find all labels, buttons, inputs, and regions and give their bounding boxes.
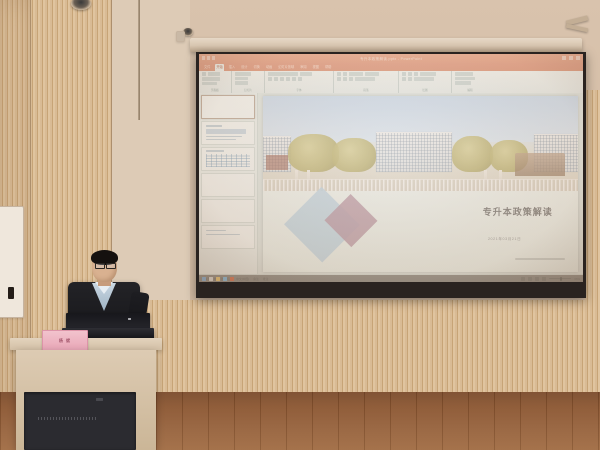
select-icon[interactable] [455,81,471,85]
start-icon[interactable] [202,277,206,281]
white-access-panel [0,206,24,318]
ribbon-group-paragraph[interactable]: 段落 [334,71,399,93]
slide-title-text[interactable]: 专升本政策解读 [483,205,553,218]
podium-vent-grille [38,417,98,420]
slide-thumbnail-4[interactable] [201,173,255,197]
photo-tree-3 [452,136,493,172]
minimize-icon[interactable] [562,56,566,60]
italic-icon[interactable] [274,77,278,81]
campus-photo [263,96,578,191]
current-slide[interactable]: 专升本政策解读 2021年03月21日 [263,96,578,272]
numbering-icon[interactable] [343,72,347,76]
powerpoint-workspace: 专升本政策解读 2021年03月21日 [199,93,583,275]
layout-icon[interactable] [235,77,248,81]
ribbon[interactable]: 剪贴板 幻灯片 [199,71,583,94]
windows-taskbar[interactable] [199,275,583,282]
slide-thumbnail-panel[interactable] [199,93,258,275]
projected-screen-surface: 专升本政策解读.pptx - PowerPoint 文件 开始 插入 设计 切换… [199,54,583,282]
laptop-screen [66,313,150,329]
quick-styles-icon[interactable] [408,77,412,81]
indent-icon[interactable] [349,72,363,76]
slide-thumbnail-1[interactable] [201,95,255,119]
cut-icon[interactable] [208,72,220,76]
shape-gallery-icon-3[interactable] [414,72,418,76]
align-left-icon[interactable] [337,77,341,81]
underline-icon[interactable] [280,77,284,81]
ribbon-group-clipboard[interactable]: 剪贴板 [199,71,232,93]
paste-icon[interactable] [202,72,206,76]
wall-outlet-box [176,31,185,42]
photo-campus-gate [515,153,565,176]
explorer-icon[interactable] [216,277,220,281]
ribbon-group-editing[interactable]: 编辑 [452,71,488,93]
slide-thumbnail-5[interactable] [201,199,255,223]
font-family-select[interactable] [268,72,298,76]
photo-tree-2 [332,138,376,172]
ribbon-group-slides[interactable]: 幻灯片 [232,71,265,93]
tab-review[interactable]: 审阅 [299,64,307,71]
podium-equipment-panel [24,392,136,450]
photo-fence [263,179,578,191]
photo-tree-1 [288,134,338,172]
podium-brand-logo [96,398,103,401]
name-card-text: 杨 斌 [59,338,71,344]
find-icon[interactable] [455,72,473,76]
speaker-glasses-icon [95,263,105,269]
undo-icon[interactable] [207,56,210,60]
wood-slat-panel-far-right [585,90,600,400]
conduit-pipe [138,0,140,120]
ribbon-group-label-font: 字体 [268,88,330,92]
speaker-glasses-icon-2 [106,263,116,269]
search-icon[interactable] [209,277,213,281]
browser-icon[interactable] [223,277,227,281]
powerpoint-title-bar: 专升本政策解读.pptx - PowerPoint [199,54,583,64]
maximize-icon[interactable] [569,56,573,60]
arrange-icon[interactable] [402,77,406,81]
ribbon-group-label-editing: 编辑 [455,88,485,92]
window-controls[interactable] [562,56,580,60]
font-size-select[interactable] [300,72,312,76]
wood-slat-panel-right [130,300,600,400]
powerpoint-icon[interactable] [230,277,234,281]
projection-screen-roller [190,38,582,52]
replace-icon[interactable] [455,77,475,81]
slide-footer-rule [515,258,565,260]
slide-thumbnail-6[interactable] [201,225,255,249]
slide-thumbnail-3[interactable] [201,147,255,171]
powerpoint-window: 专升本政策解读.pptx - PowerPoint 文件 开始 插入 设计 切换… [199,54,583,282]
new-slide-icon[interactable] [235,72,251,76]
slide-date-text[interactable]: 2021年03月21日 [488,237,521,242]
slide-thumbnail-2[interactable] [201,121,255,145]
ribbon-group-label-paragraph: 段落 [337,88,395,92]
tab-view[interactable]: 视图 [312,64,320,71]
shape-outline-icon[interactable] [414,77,434,81]
lecture-hall-photo: 专升本政策解读.pptx - PowerPoint 文件 开始 插入 设计 切换… [0,0,600,450]
redo-icon[interactable] [212,56,215,60]
format-painter-icon[interactable] [202,82,217,86]
ribbon-group-label-drawing: 绘图 [402,88,448,92]
ribbon-tab-strip[interactable]: 文件 开始 插入 设计 切换 动画 幻灯片放映 审阅 视图 帮助 [199,64,583,71]
tab-transitions[interactable]: 切换 [253,64,261,71]
bold-icon[interactable] [268,77,272,81]
shape-fill-icon[interactable] [420,72,436,76]
quick-access-toolbar[interactable] [202,56,215,60]
close-icon[interactable] [576,56,580,60]
shape-gallery-icon[interactable] [402,72,406,76]
tab-home[interactable]: 开始 [215,64,223,71]
slide-canvas-area[interactable]: 专升本政策解读 2021年03月21日 [258,93,583,275]
photo-red-sign [266,155,288,170]
laptop-indicator [128,318,131,320]
tab-design[interactable]: 设计 [240,64,248,71]
ribbon-group-font[interactable]: 字体 [265,71,334,93]
tab-help[interactable]: 帮助 [324,64,332,71]
line-spacing-icon[interactable] [365,72,379,76]
shadow-icon[interactable] [292,77,296,81]
reset-icon[interactable] [235,81,248,85]
light-switch-plate [8,287,14,299]
ribbon-group-label-clipboard: 剪贴板 [202,88,228,92]
text-direction-icon[interactable] [355,77,375,81]
tab-file[interactable]: 文件 [203,64,211,71]
bullets-icon[interactable] [337,72,341,76]
font-color-icon[interactable] [298,77,302,81]
align-center-icon[interactable] [343,77,347,81]
speaker-name-card: 杨 斌 [42,330,88,352]
save-icon[interactable] [202,56,205,60]
shape-gallery-icon-2[interactable] [408,72,412,76]
ribbon-group-drawing[interactable]: 绘图 [399,71,452,93]
copy-icon[interactable] [202,77,220,81]
document-title: 专升本政策解读.pptx - PowerPoint [360,57,422,62]
tab-animations[interactable]: 动画 [265,64,273,71]
photo-main-building [376,132,452,172]
strikethrough-icon[interactable] [286,77,290,81]
ribbon-group-label-slides: 幻灯片 [235,88,261,92]
align-right-icon[interactable] [349,77,353,81]
tab-slideshow[interactable]: 幻灯片放映 [277,64,295,71]
tab-insert[interactable]: 插入 [228,64,236,71]
